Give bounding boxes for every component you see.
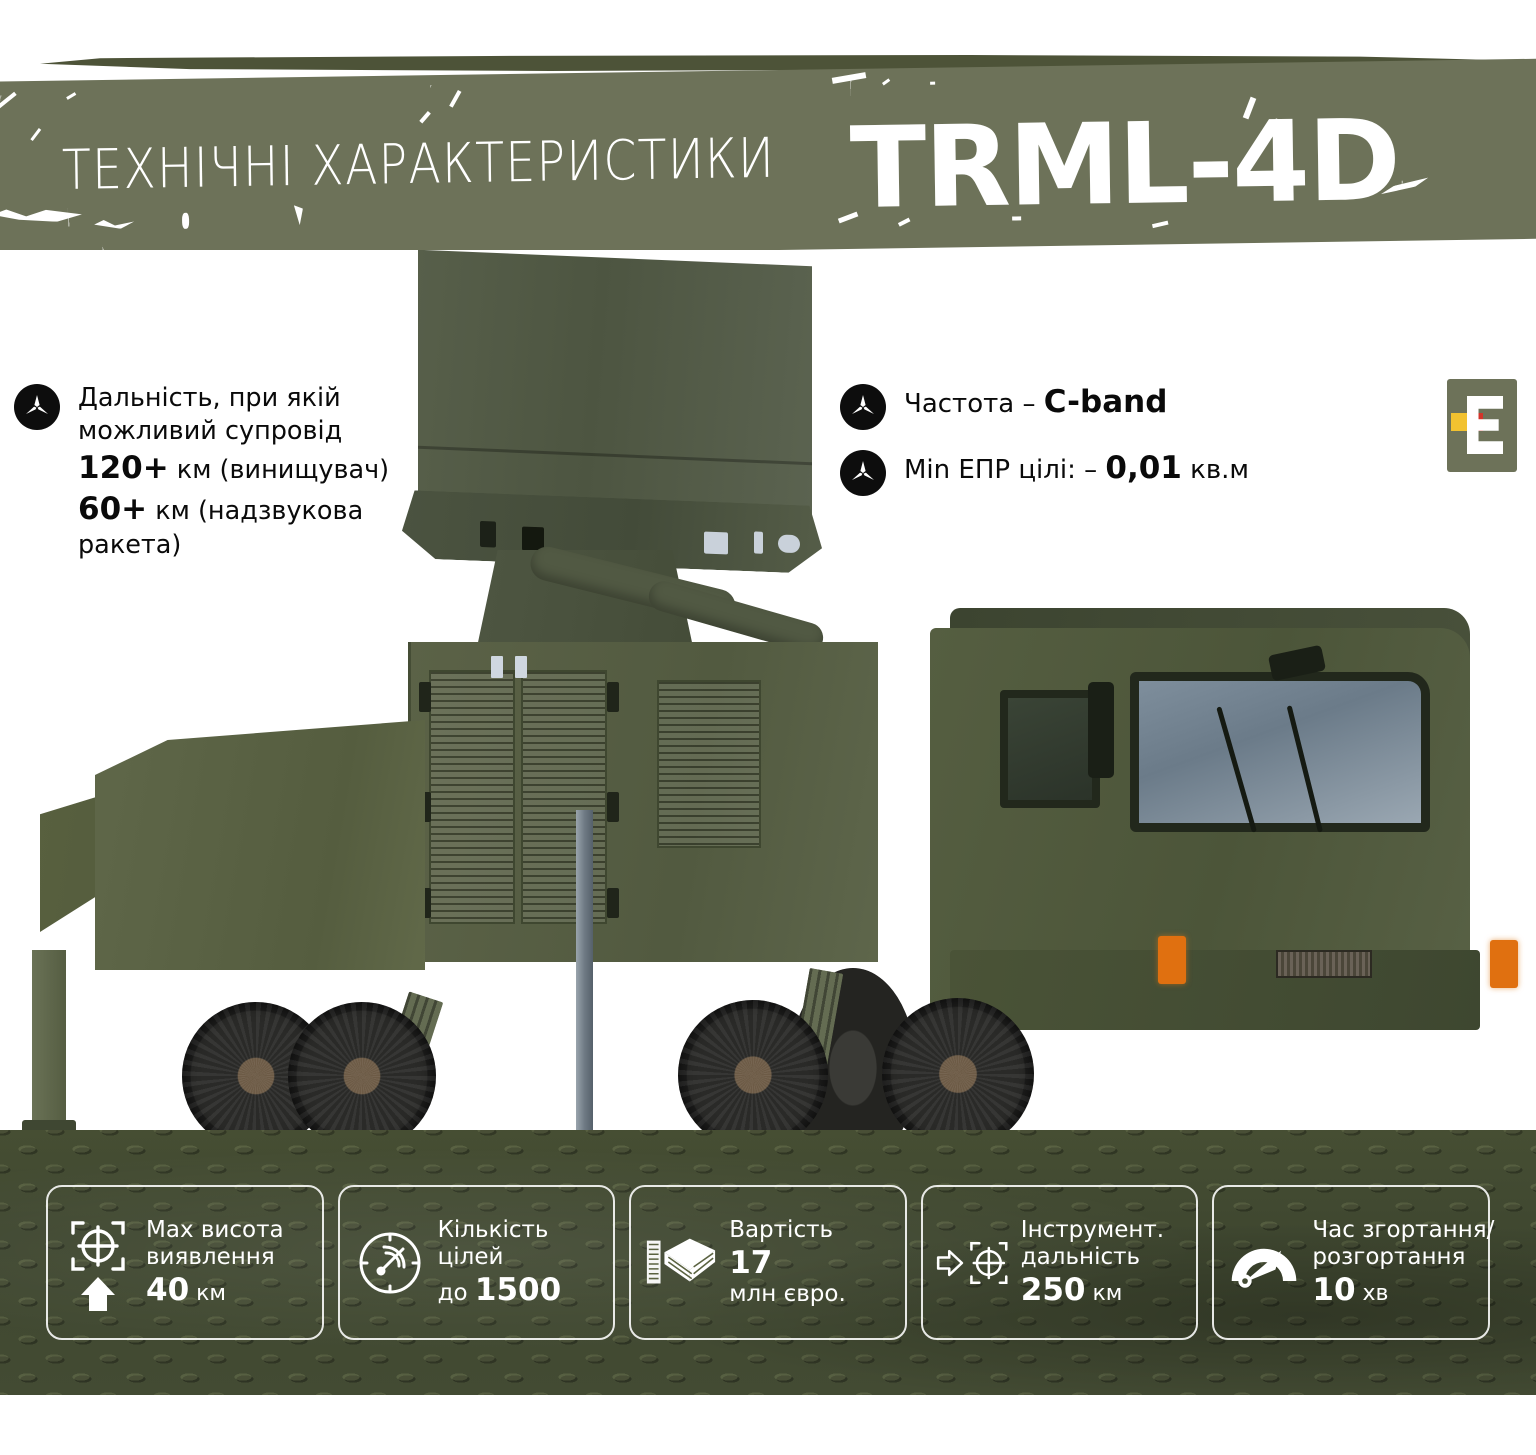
rcs-unit: кв.м <box>1182 455 1249 485</box>
card-value: 40 <box>146 1272 189 1308</box>
wheel-3 <box>678 1000 828 1140</box>
bullet-star-icon <box>840 450 886 496</box>
outrigger-leg <box>32 950 66 1140</box>
bullet-star-icon <box>14 384 60 430</box>
stat-card-target-count[interactable]: Кількість цілей до 1500 <box>338 1185 616 1340</box>
gauge-signal-icon <box>352 1223 428 1303</box>
indicator-light-side <box>1490 940 1518 988</box>
wheel-2 <box>288 1002 436 1140</box>
card-line-2: розгортання <box>1312 1244 1478 1271</box>
range-line-3: ракета) <box>78 530 181 560</box>
range-unit-1: км (винищувач) <box>169 455 389 485</box>
card-line-1: Інструмент. <box>1021 1217 1164 1244</box>
card-unit: км <box>189 1281 226 1306</box>
stat-card-instrumented-range-text: Інструмент. дальність 250 км <box>1021 1217 1164 1309</box>
card-line-1: Вартість <box>729 1217 846 1244</box>
card-line-3: млн євро. <box>729 1281 846 1308</box>
card-unit: км <box>1086 1281 1123 1306</box>
callout-rcs-text: Min ЕПР цілі: – 0,01 кв.м <box>904 448 1249 488</box>
range-unit-2: км (надзвукова <box>147 496 363 526</box>
range-value-1: 120+ <box>78 450 169 486</box>
card-line-2: цілей <box>438 1244 562 1271</box>
stat-card-instrumented-range[interactable]: Інструмент. дальність 250 км <box>921 1185 1199 1340</box>
rcs-value: 0,01 <box>1105 450 1182 486</box>
card-value: 1500 <box>475 1272 561 1308</box>
callout-detection-range: Дальність, при якій можливий супровід 12… <box>14 382 408 562</box>
equipment-shelter <box>408 642 878 962</box>
stat-card-max-altitude[interactable]: Max висота виявлення 40 км <box>46 1185 324 1340</box>
card-line-2: виявлення <box>146 1244 284 1271</box>
stat-card-cost[interactable]: Вартість 17 млн євро. <box>629 1185 907 1340</box>
card-line-1: Час згортання/ <box>1312 1217 1478 1244</box>
speedometer-icon <box>1226 1232 1302 1294</box>
windshield <box>1130 672 1430 832</box>
bullet-star-icon <box>840 384 886 430</box>
card-prefix: до <box>438 1280 475 1306</box>
mirror-side <box>1088 682 1114 778</box>
stat-card-deploy-time[interactable]: Час згортання/ розгортання 10 хв <box>1212 1185 1490 1340</box>
callout-frequency-text: Частота – C-band <box>904 382 1167 422</box>
card-value: 250 <box>1021 1272 1086 1308</box>
rcs-label: Min ЕПР цілі: – <box>904 455 1105 485</box>
card-value: 17 <box>729 1245 772 1281</box>
front-bumper <box>950 950 1480 1030</box>
stat-card-deploy-time-text: Час згортання/ розгортання 10 хв <box>1312 1217 1478 1309</box>
callout-frequency: Частота – C-band <box>840 382 1167 430</box>
stat-card-target-count-text: Кількість цілей до 1500 <box>438 1217 562 1309</box>
stat-card-cost-text: Вартість 17 млн євро. <box>729 1217 846 1309</box>
range-line-2: можливий супровід <box>78 416 342 446</box>
stat-card-list: Max висота виявлення 40 км Кількість ціл… <box>0 1185 1536 1340</box>
card-line-2: дальність <box>1021 1244 1164 1271</box>
support-pole <box>576 810 593 1140</box>
page-title: ТЕХНІЧНІ ХАРАКТЕРИСТИКИ <box>61 118 741 210</box>
brand-logo[interactable] <box>1447 379 1517 472</box>
wheel-4 <box>882 998 1034 1140</box>
crosshair-arrow-icon <box>60 1211 136 1315</box>
radar-antenna-array <box>418 250 812 516</box>
callout-rcs: Min ЕПР цілі: – 0,01 кв.м <box>840 448 1249 496</box>
range-value-2: 60+ <box>78 491 147 527</box>
range-line-1: Дальність, при якій <box>78 383 341 413</box>
callout-detection-range-text: Дальність, при якій можливий супровід 12… <box>78 382 408 562</box>
money-stack-icon <box>643 1226 719 1300</box>
stat-card-max-altitude-text: Max висота виявлення 40 км <box>146 1217 284 1309</box>
chassis-side-panel <box>95 720 425 970</box>
card-value: 10 <box>1312 1272 1355 1308</box>
logo-letter-ye-icon <box>1467 396 1503 454</box>
license-plate <box>1276 950 1372 978</box>
model-name: TRML-4D <box>849 94 1511 234</box>
frequency-label: Частота – <box>904 389 1044 419</box>
logo-yellow-accent <box>1451 413 1468 431</box>
frequency-value: C-band <box>1044 384 1168 420</box>
card-line-1: Max висота <box>146 1217 284 1244</box>
indicator-light-front <box>1158 936 1186 984</box>
side-window <box>1000 690 1100 808</box>
arrow-crosshair-icon <box>935 1226 1011 1300</box>
card-line-1: Кількість <box>438 1217 562 1244</box>
card-unit: хв <box>1356 1281 1389 1306</box>
